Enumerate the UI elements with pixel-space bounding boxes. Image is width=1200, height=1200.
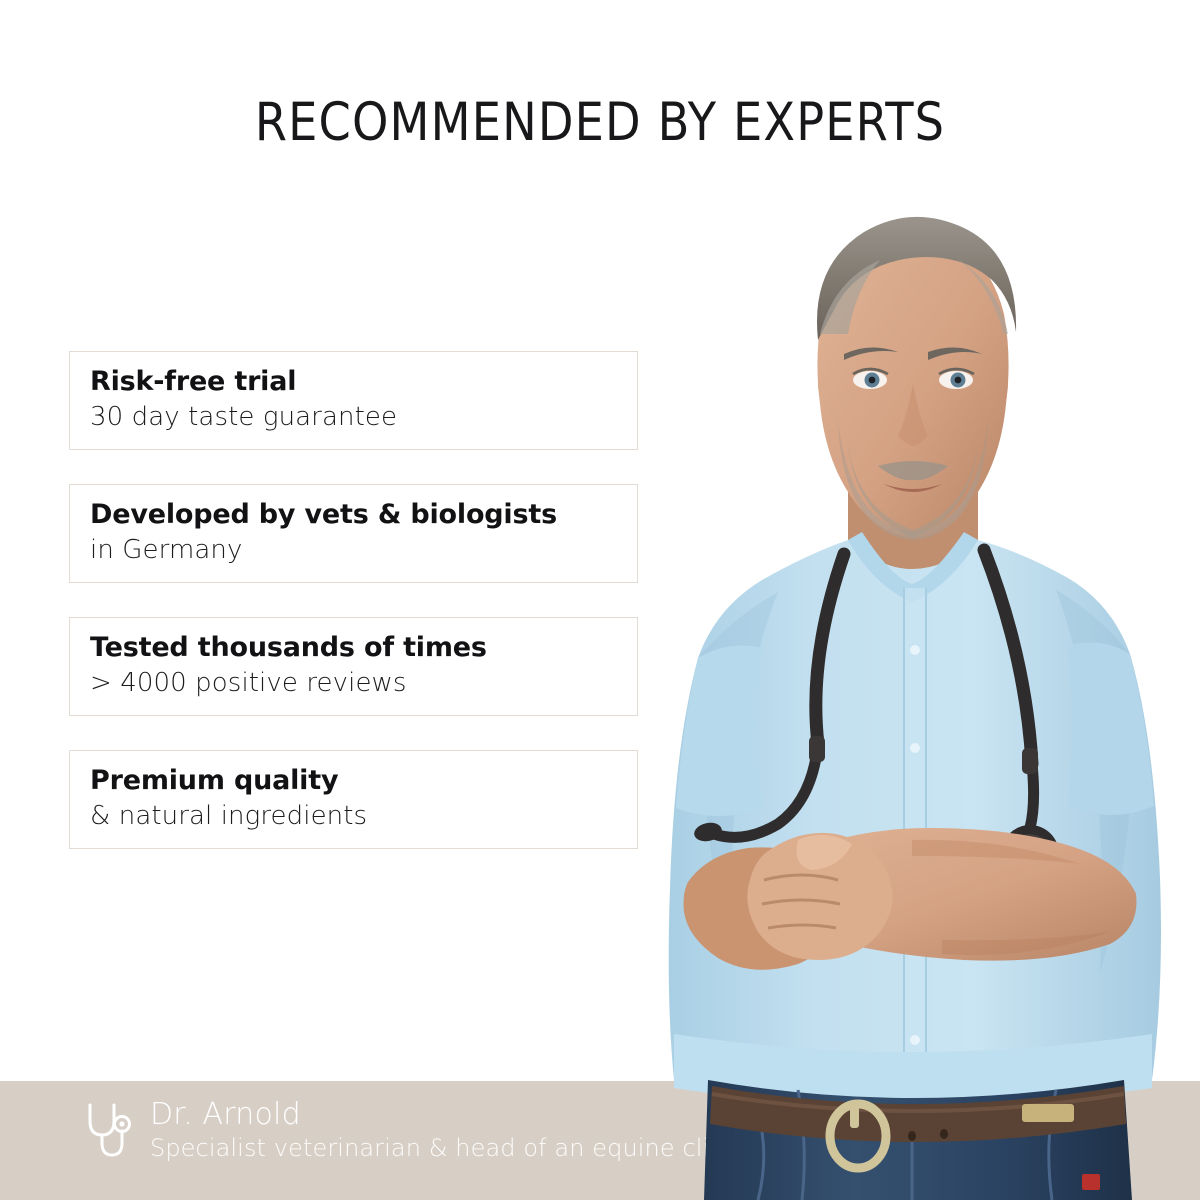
feature-subtitle: > 4000 positive reviews: [90, 667, 637, 701]
feature-subtitle: 30 day taste guarantee: [90, 401, 637, 435]
feature-item-tested-thousands: Tested thousands of times > 4000 positiv…: [69, 617, 638, 716]
stethoscope-icon: [82, 1099, 134, 1161]
feature-subtitle: & natural ingredients: [90, 800, 637, 834]
feature-item-developed-by-vets: Developed by vets & biologists in German…: [69, 484, 638, 583]
feature-subtitle: in Germany: [90, 534, 637, 568]
promo-card: RECOMMENDED BY EXPERTS Risk-free trial 3…: [0, 0, 1200, 1200]
feature-item-premium-quality: Premium quality & natural ingredients: [69, 750, 638, 849]
expert-photo: [612, 188, 1200, 1200]
feature-title: Developed by vets & biologists: [90, 499, 637, 532]
feature-list: Risk-free trial 30 day taste guarantee D…: [69, 351, 638, 849]
page-title: RECOMMENDED BY EXPERTS: [18, 92, 1182, 153]
feature-title: Premium quality: [90, 765, 637, 798]
feature-title: Tested thousands of times: [90, 632, 637, 665]
feature-title: Risk-free trial: [90, 366, 637, 399]
feature-item-risk-free-trial: Risk-free trial 30 day taste guarantee: [69, 351, 638, 450]
